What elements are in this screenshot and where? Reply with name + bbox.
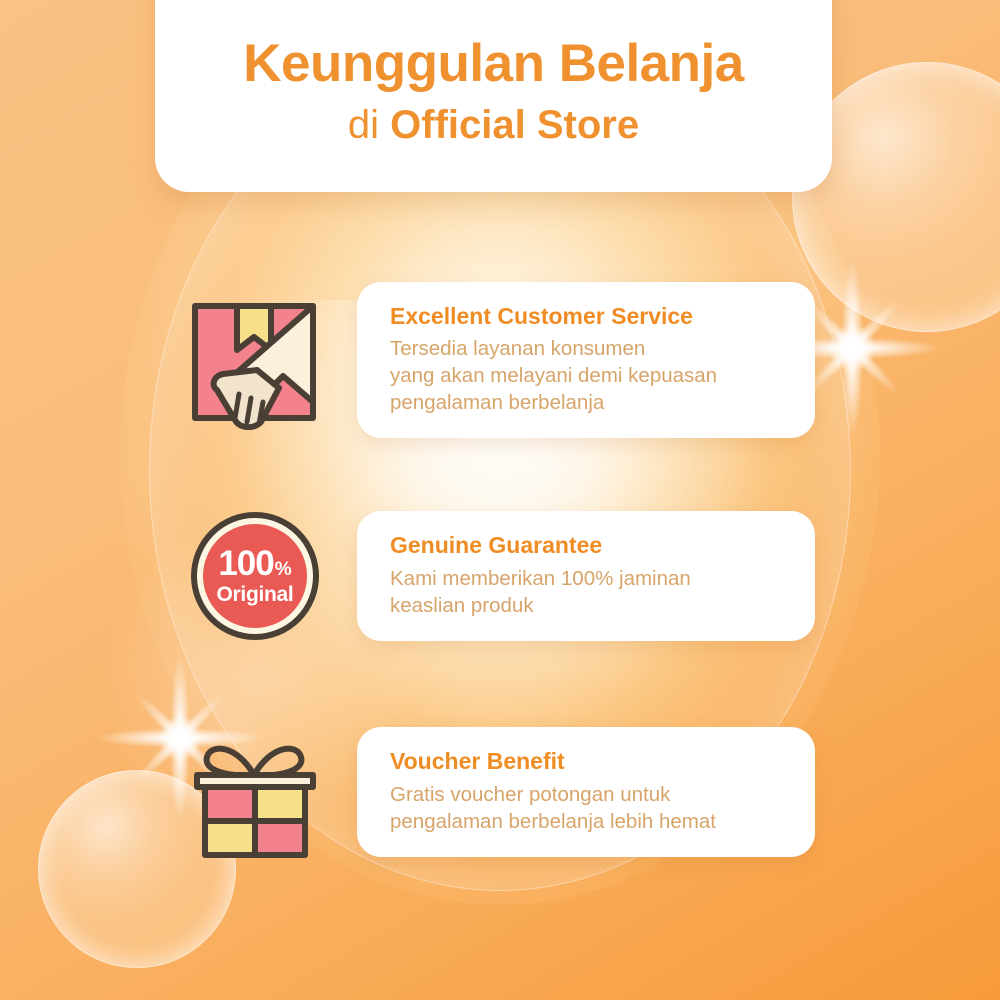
badge-top-row: 100 % [218,546,291,581]
hundred-percent-original-badge-icon: 100 % Original [180,512,330,640]
handshake-package-icon [180,290,330,430]
feature-item-genuine-guarantee: 100 % Original Genuine Guarantee Kami me… [0,500,1000,652]
feature-list: Excellent Customer Service Tersedia laya… [0,276,1000,932]
feature-title: Voucher Benefit [390,747,785,776]
feature-card: Genuine Guarantee Kami memberikan 100% j… [357,511,815,641]
feature-card: Excellent Customer Service Tersedia laya… [357,282,815,439]
feature-description: Gratis voucher potongan untuk pengalaman… [390,781,785,835]
feature-title: Excellent Customer Service [390,302,785,331]
badge-inner-circle: 100 % Original [203,524,307,628]
badge-percent-sign: % [275,560,292,579]
feature-card: Voucher Benefit Gratis voucher potongan … [357,727,815,857]
feature-description: Kami memberikan 100% jaminan keaslian pr… [390,565,785,619]
page-subtitle: di Official Store [348,104,639,146]
page-title: Keunggulan Belanja [243,36,743,92]
feature-description: Tersedia layanan konsumen yang akan mela… [390,335,785,416]
feature-title: Genuine Guarantee [390,531,785,560]
badge-subtitle: Original [217,583,294,607]
badge-number: 100 [218,546,273,581]
page-subtitle-strong: Official Store [390,103,639,147]
promo-poster: Keunggulan Belanja di Official Store [0,0,1000,1000]
feature-item-voucher-benefit: Voucher Benefit Gratis voucher potongan … [0,716,1000,868]
gift-box-icon [180,719,330,865]
header-card: Keunggulan Belanja di Official Store [155,0,832,192]
badge-outer-ring: 100 % Original [191,512,319,640]
feature-item-customer-service: Excellent Customer Service Tersedia laya… [0,284,1000,436]
page-subtitle-prefix: di [348,103,390,147]
